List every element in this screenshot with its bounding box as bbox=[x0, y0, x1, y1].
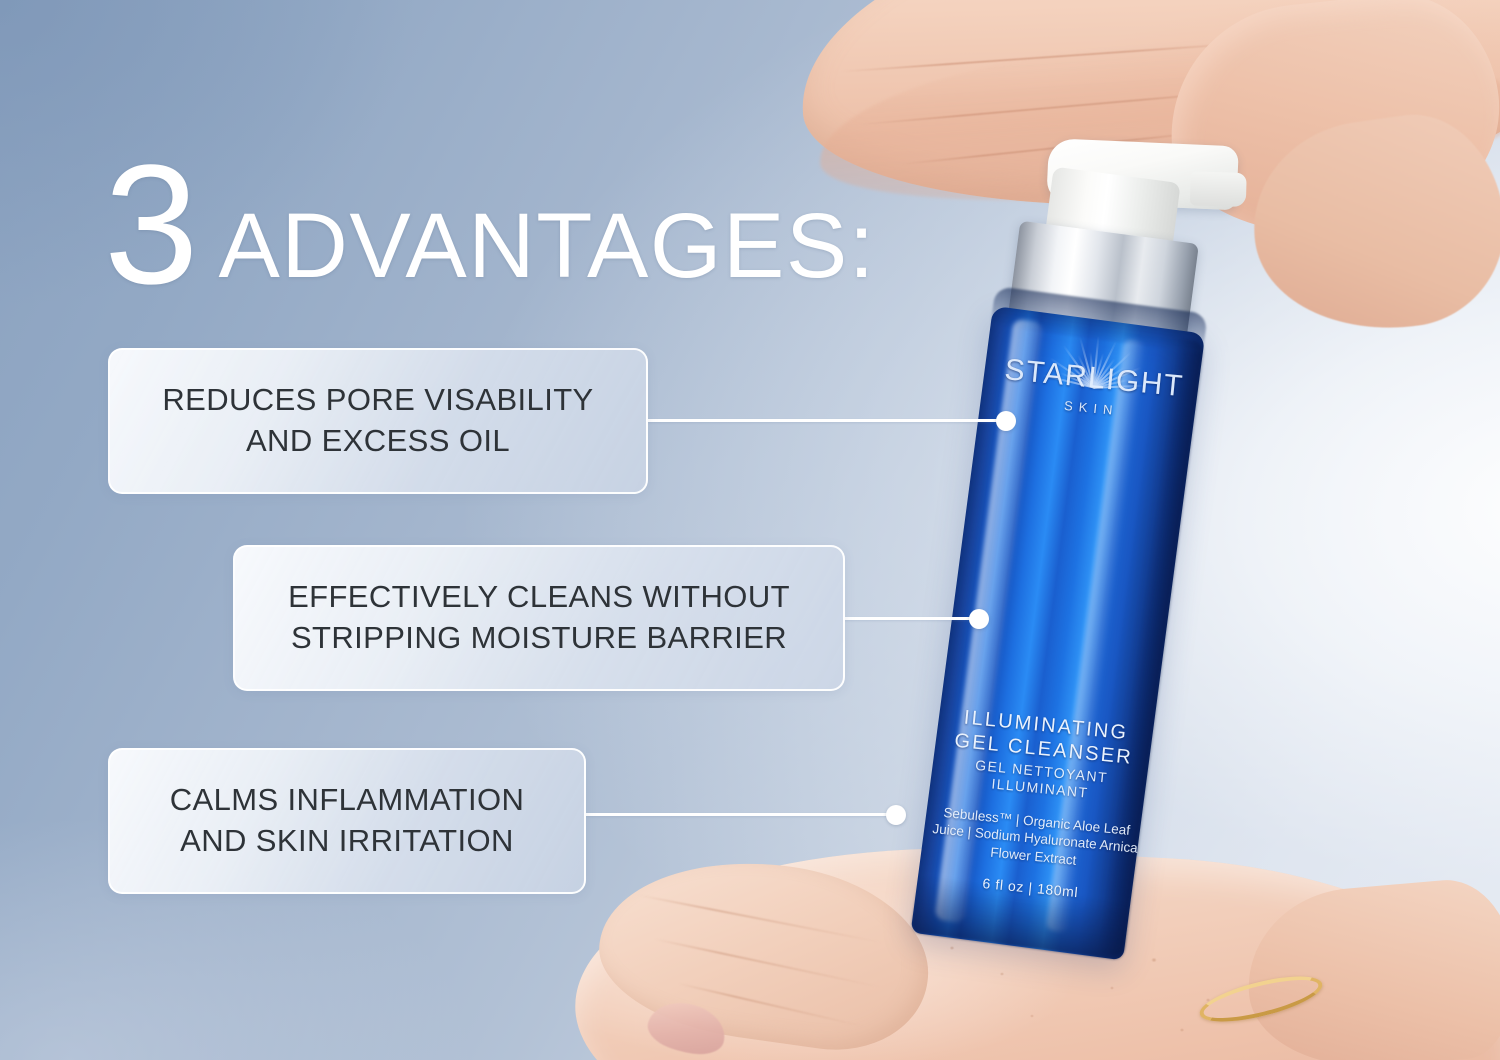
connector-dot-1 bbox=[996, 411, 1016, 431]
advantage-callout-1: REDUCES PORE VISABILITY AND EXCESS OIL bbox=[108, 348, 648, 494]
advantage-2-line2: STRIPPING MOISTURE BARRIER bbox=[288, 618, 790, 659]
connector-line-2 bbox=[843, 617, 981, 620]
ingredient-list: Sebuless™ | Organic Aloe Leaf Juice | So… bbox=[927, 803, 1143, 876]
advantage-1-line1: REDUCES PORE VISABILITY bbox=[162, 382, 593, 417]
advantage-callout-3: CALMS INFLAMMATION AND SKIN IRRITATION bbox=[108, 748, 586, 894]
connector-dot-2 bbox=[969, 609, 989, 629]
bottle-label: ILLUMINATING GEL CLEANSER GEL NETTOYANT … bbox=[924, 704, 1153, 906]
advantage-3-line1: CALMS INFLAMMATION bbox=[170, 782, 525, 817]
advantage-text-3: CALMS INFLAMMATION AND SKIN IRRITATION bbox=[170, 780, 525, 862]
advantage-2-line1: EFFECTIVELY CLEANS WITHOUT bbox=[288, 579, 790, 614]
connector-dot-3 bbox=[886, 805, 906, 825]
advantage-3-line2: AND SKIN IRRITATION bbox=[170, 821, 525, 862]
advantage-text-1: REDUCES PORE VISABILITY AND EXCESS OIL bbox=[162, 380, 593, 462]
advantage-1-line2: AND EXCESS OIL bbox=[162, 421, 593, 462]
headline-number: 3 bbox=[104, 130, 201, 320]
starburst-icon bbox=[1034, 324, 1159, 393]
headline-word: ADVANTAGES: bbox=[219, 195, 876, 297]
connector-line-3 bbox=[584, 813, 898, 816]
page-title: 3ADVANTAGES: bbox=[104, 140, 876, 310]
advantage-callout-2: EFFECTIVELY CLEANS WITHOUT STRIPPING MOI… bbox=[233, 545, 845, 691]
advantage-text-2: EFFECTIVELY CLEANS WITHOUT STRIPPING MOI… bbox=[288, 577, 790, 659]
connector-line-1 bbox=[646, 419, 1006, 422]
pump-spout bbox=[1190, 172, 1247, 207]
advantages-poster: STARLIGHT SKIN ILLUMINATING GEL CLEANSER… bbox=[0, 0, 1500, 1060]
